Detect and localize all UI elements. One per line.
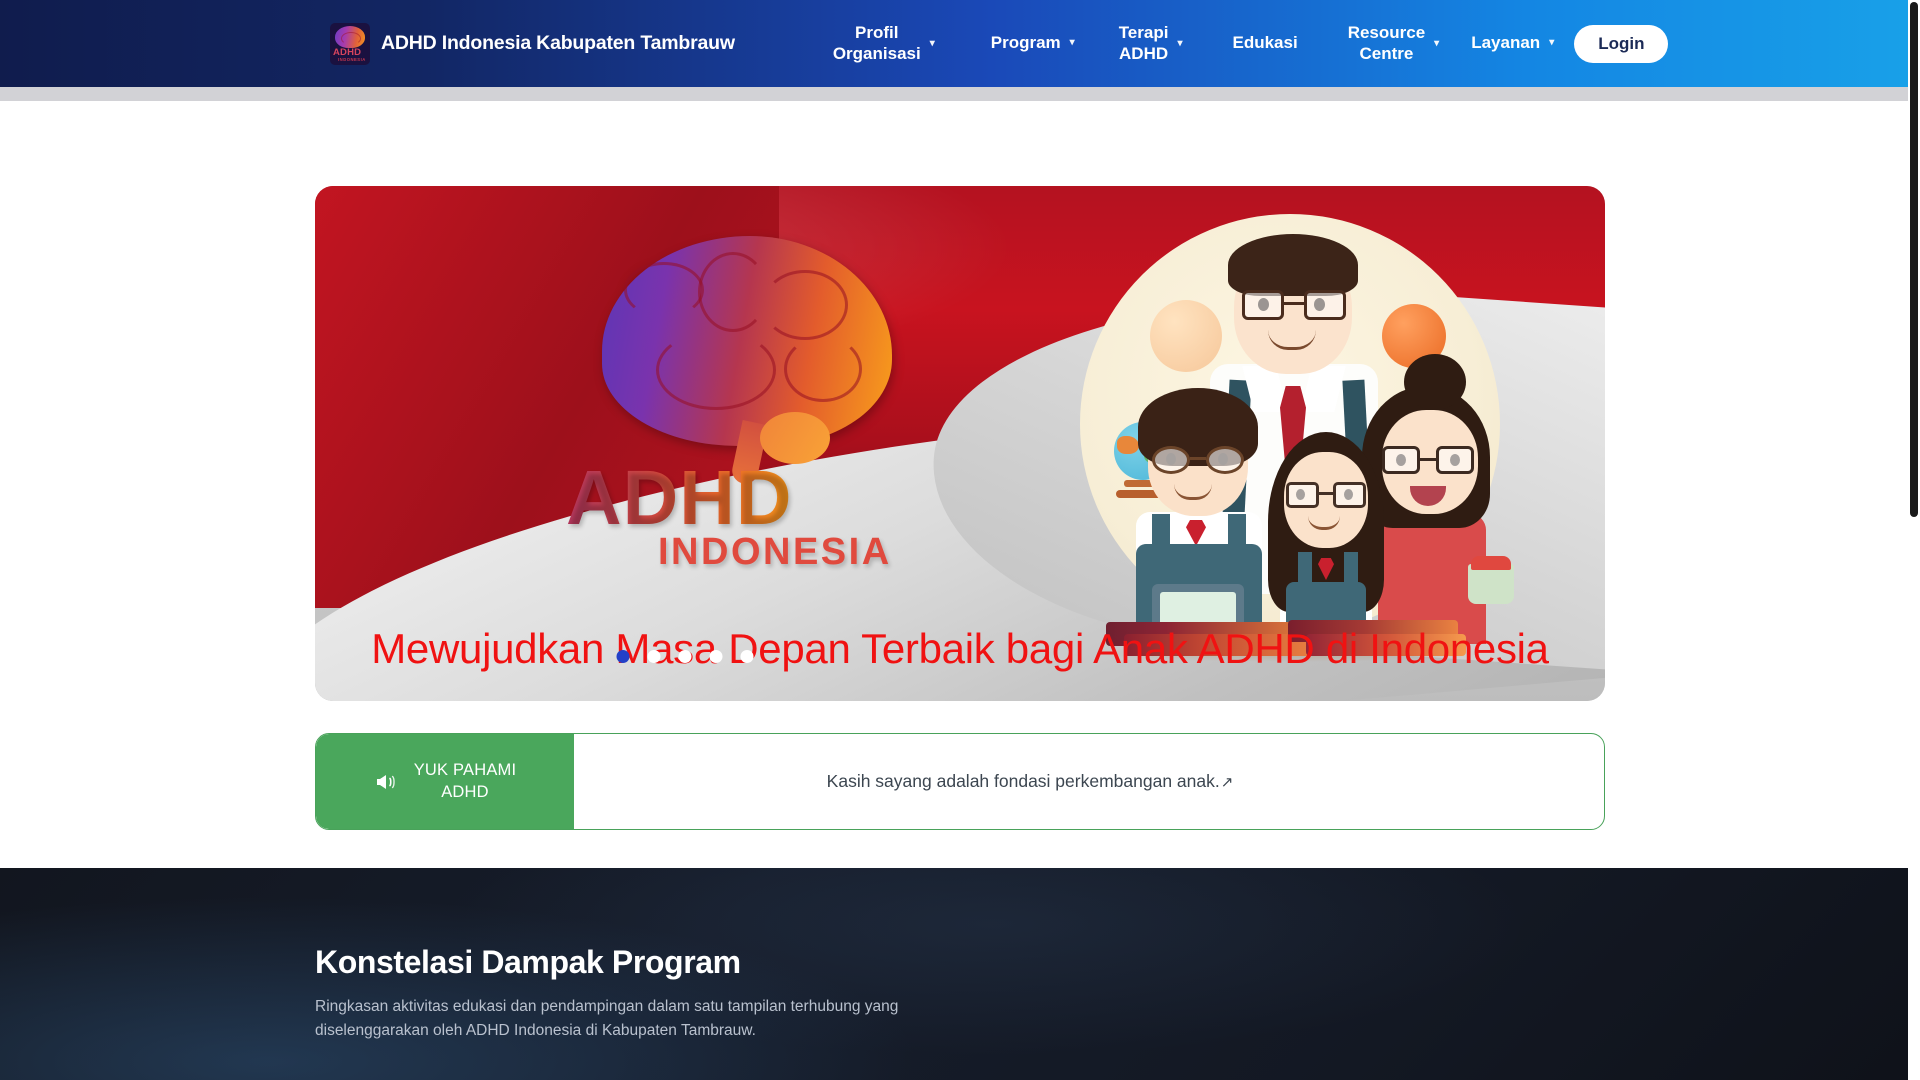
chevron-down-icon[interactable]: ▾ bbox=[1549, 38, 1554, 48]
nav-item-resource-centre-label: Resource Centre bbox=[1348, 23, 1425, 64]
header-bottom-strip bbox=[0, 87, 1908, 101]
vertical-scrollbar[interactable] bbox=[1908, 0, 1920, 1080]
girl-strap-left bbox=[1298, 552, 1312, 586]
hero-adhd-logo: ADHD INDONESIA bbox=[570, 226, 930, 626]
decor-ball-light-icon bbox=[1150, 300, 1222, 372]
hero-headline: Mewujudkan Masa Depan Terbaik bagi Anak … bbox=[315, 625, 1605, 673]
brain-shape-icon bbox=[335, 26, 365, 48]
nav-item-edukasi[interactable]: Edukasi bbox=[1232, 33, 1297, 54]
nav-label-line2: ADHD bbox=[1119, 44, 1168, 63]
header-inner: ADHD INDONESIA ADHD Indonesia Kabupaten … bbox=[0, 23, 1908, 65]
login-button[interactable]: Login bbox=[1574, 25, 1668, 63]
chevron-down-icon[interactable]: ▾ bbox=[1177, 39, 1182, 49]
nav-label-line1: Resource bbox=[1348, 23, 1425, 42]
nav-item-terapi-adhd-label: Terapi ADHD bbox=[1119, 23, 1169, 64]
nav-label-line2: Centre bbox=[1360, 44, 1414, 63]
konstelasi-dampak-program-section: Konstelasi Dampak Program Ringkasan akti… bbox=[0, 868, 1908, 1080]
section-subtitle: Ringkasan aktivitas edukasi dan pendampi… bbox=[315, 995, 955, 1043]
nav-item-profil-organisasi[interactable]: Profil Organisasi ▾ bbox=[833, 23, 935, 64]
father-hair bbox=[1228, 234, 1358, 296]
cta-announcement-bar: YUK PAHAMI ADHD Kasih sayang adalah fond… bbox=[315, 733, 1605, 830]
nav-item-layanan[interactable]: Layanan ▾ bbox=[1471, 33, 1554, 54]
brain-illustration-icon bbox=[602, 236, 892, 446]
main-navigation: Profil Organisasi ▾ Program ▾ Terapi ADH… bbox=[779, 23, 1884, 64]
hero-logo-text-sub: INDONESIA bbox=[658, 531, 892, 574]
carousel-dot-3[interactable] bbox=[679, 650, 692, 663]
father-glasses-icon bbox=[1242, 290, 1346, 320]
carousel-dot-5[interactable] bbox=[741, 650, 754, 663]
nav-item-profil-organisasi-label: Profil Organisasi bbox=[833, 23, 921, 64]
carousel-dot-2[interactable] bbox=[648, 650, 661, 663]
cta-message-link[interactable]: Kasih sayang adalah fondasi perkembangan… bbox=[574, 734, 1604, 829]
cta-message-text: Kasih sayang adalah fondasi perkembangan… bbox=[827, 771, 1220, 792]
mother-hair-bun bbox=[1404, 354, 1466, 410]
nav-label-line2: Organisasi bbox=[833, 44, 921, 63]
external-link-arrow-icon: ↗ bbox=[1221, 773, 1234, 791]
carousel-dot-4[interactable] bbox=[710, 650, 723, 663]
adhd-brain-logo-icon: ADHD INDONESIA bbox=[330, 23, 370, 65]
cta-badge-label: YUK PAHAMI ADHD bbox=[414, 760, 517, 803]
girl-strap-right bbox=[1344, 552, 1358, 586]
site-title: ADHD Indonesia Kabupaten Tambrauw bbox=[381, 32, 735, 55]
nav-item-edukasi-label: Edukasi bbox=[1232, 33, 1297, 54]
section-title: Konstelasi Dampak Program bbox=[315, 944, 1215, 981]
nav-item-program[interactable]: Program ▾ bbox=[991, 33, 1075, 54]
mother-glasses-icon bbox=[1382, 446, 1474, 474]
hero-carousel[interactable]: ADHD INDONESIA bbox=[315, 186, 1605, 701]
nav-item-layanan-label: Layanan bbox=[1471, 33, 1540, 54]
page-body: ADHD INDONESIA bbox=[0, 101, 1908, 1080]
dark-section-content: Konstelasi Dampak Program Ringkasan akti… bbox=[315, 944, 1215, 1043]
chevron-down-icon[interactable]: ▾ bbox=[1070, 38, 1075, 48]
nav-item-program-label: Program bbox=[991, 33, 1061, 54]
boy-glasses-icon bbox=[1152, 446, 1244, 474]
girl-glasses-icon bbox=[1286, 482, 1366, 508]
brand-logo-link[interactable]: ADHD INDONESIA ADHD Indonesia Kabupaten … bbox=[330, 23, 735, 65]
megaphone-icon bbox=[374, 770, 398, 794]
nav-label-line1: Profil bbox=[855, 23, 898, 42]
nav-item-terapi-adhd[interactable]: Terapi ADHD ▾ bbox=[1119, 23, 1183, 64]
scrollbar-thumb[interactable] bbox=[1910, 2, 1918, 517]
nav-label-line1: Terapi bbox=[1119, 23, 1169, 42]
chevron-down-icon[interactable]: ▾ bbox=[930, 39, 935, 49]
family-illustration bbox=[1052, 204, 1517, 674]
site-header: ADHD INDONESIA ADHD Indonesia Kabupaten … bbox=[0, 0, 1908, 87]
carousel-dots[interactable] bbox=[617, 650, 754, 663]
cta-badge-line1: YUK PAHAMI bbox=[414, 761, 517, 779]
cta-badge-line2: ADHD bbox=[441, 783, 489, 801]
carousel-dot-1[interactable] bbox=[617, 650, 630, 663]
nav-item-resource-centre[interactable]: Resource Centre ▾ bbox=[1348, 23, 1440, 64]
logo-text-sub: INDONESIA bbox=[338, 57, 366, 62]
hero-logo-text-main: ADHD bbox=[566, 454, 792, 543]
yuk-pahami-adhd-button[interactable]: YUK PAHAMI ADHD bbox=[316, 734, 574, 829]
chevron-down-icon[interactable]: ▾ bbox=[1434, 39, 1439, 49]
